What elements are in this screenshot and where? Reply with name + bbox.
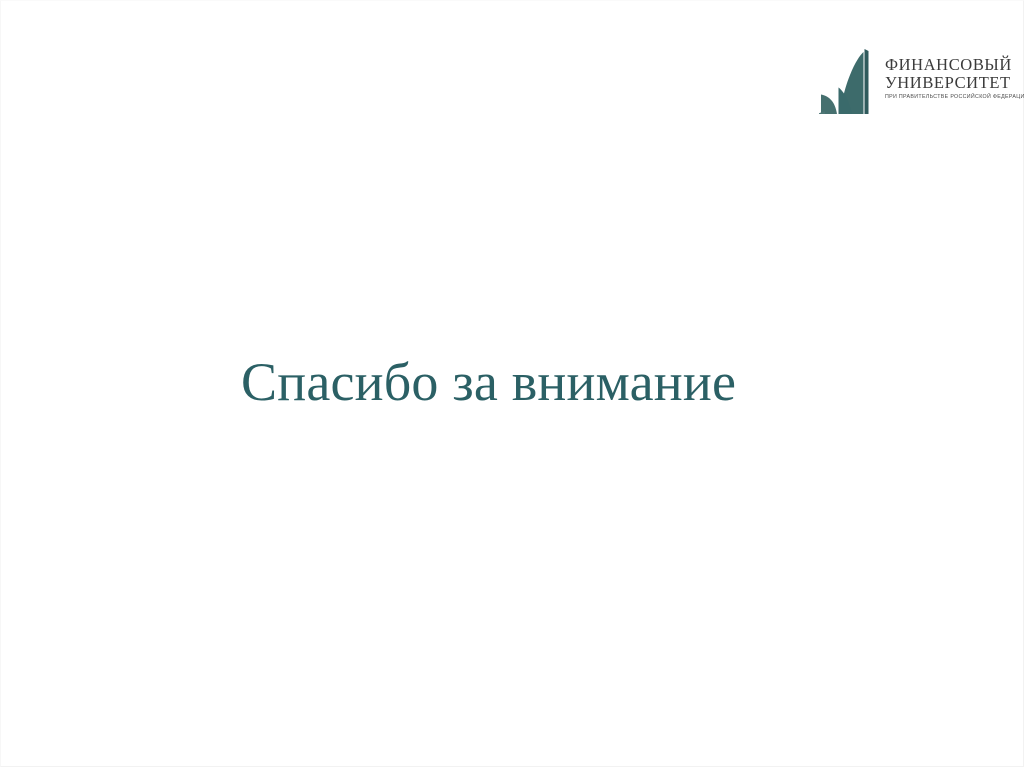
logo-subtitle: ПРИ ПРАВИТЕЛЬСТВЕ РОССИЙСКОЙ ФЕДЕРАЦИИ [885,93,1024,101]
logo-line-2: УНИВЕРСИТЕТ [885,74,1011,92]
logo-line-1: ФИНАНСОВЫЙ [885,56,1012,74]
slide-headline: Спасибо за внимание [241,351,801,413]
university-logo-wordmark: ФИНАНСОВЫЙ УНИВЕРСИТЕТ ПРИ ПРАВИТЕЛЬСТВЕ… [885,48,1024,101]
financial-university-sail-mark-icon [819,48,881,120]
presentation-slide: ФИНАНСОВЫЙ УНИВЕРСИТЕТ ПРИ ПРАВИТЕЛЬСТВЕ… [0,0,1024,767]
university-logo: ФИНАНСОВЫЙ УНИВЕРСИТЕТ ПРИ ПРАВИТЕЛЬСТВЕ… [819,48,999,120]
